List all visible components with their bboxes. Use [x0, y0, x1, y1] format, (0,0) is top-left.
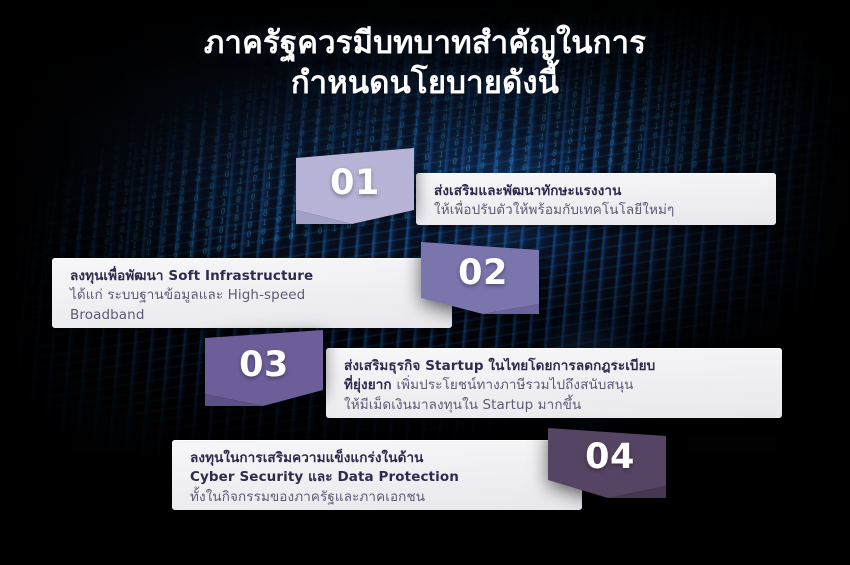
card-04-text: ลงทุนในการเสริมความแข็งแกร่งในด้าน Cyber… — [190, 449, 566, 507]
page-title-line-1: ภาครัฐควรมีบทบาทสำคัญในการ — [204, 25, 646, 61]
page-title: ภาครัฐควรมีบทบาทสำคัญในการ กำหนดนโยบายดั… — [0, 24, 850, 103]
card-03-line-2-bold: ที่ยุ่งยาก — [344, 377, 396, 393]
page-title-line-2: กำหนดนโยบายดังนี้ — [0, 64, 850, 104]
card-03-line-2: ที่ยุ่งยาก เพิ่มประโยชน์ทางภาษีรวมไปถึงส… — [344, 376, 766, 395]
card-02-text: ลงทุนเพื่อพัฒนา Soft Infrastructure ได้แ… — [70, 267, 436, 325]
card-04[interactable]: ลงทุนในการเสริมความแข็งแกร่งในด้าน Cyber… — [172, 440, 582, 510]
badge-02-number: 02 — [458, 253, 508, 293]
card-02-line-1: ลงทุนเพื่อพัฒนา Soft Infrastructure — [70, 267, 436, 286]
badge-03-number: 03 — [239, 345, 289, 385]
badge-01-number: 01 — [330, 163, 380, 203]
card-01-line-1: ส่งเสริมและพัฒนาทักษะแรงงาน — [434, 182, 760, 201]
infographic-slide: 1 0 0 1 0 1 1 0 0 1 0 1 0 0 1 1 0 1 0 0 … — [0, 0, 850, 565]
card-02-line-2: ได้แก่ ระบบฐานข้อมูลและ High-speed — [70, 286, 436, 305]
card-02-line-2-normal: ได้แก่ ระบบฐานข้อมูลและ High-speed — [70, 287, 305, 303]
card-03-line-1-bold: ส่งเสริมธุรกิจ Startup ในไทยโดยการลดกฎระ… — [344, 358, 655, 374]
badge-02[interactable]: 02 — [421, 238, 539, 314]
badge-04-number: 04 — [585, 437, 635, 477]
badge-04[interactable]: 04 — [548, 422, 666, 498]
card-04-line-3-normal: ทั้งในกิจกรรมของภาครัฐและภาคเอกชน — [190, 489, 425, 505]
badge-01[interactable]: 01 — [296, 148, 414, 224]
card-01[interactable]: ส่งเสริมและพัฒนาทักษะแรงงาน ให้เพื่อปรับ… — [416, 173, 776, 225]
card-04-line-1: ลงทุนในการเสริมความแข็งแกร่งในด้าน — [190, 449, 566, 468]
card-04-line-2: Cyber Security และ Data Protection — [190, 468, 566, 487]
card-02-line-3: Broadband — [70, 306, 436, 325]
card-04-line-1-bold: ลงทุนในการเสริมความแข็งแกร่งในด้าน — [190, 450, 423, 466]
card-03[interactable]: ส่งเสริมธุรกิจ Startup ในไทยโดยการลดกฎระ… — [326, 348, 782, 418]
card-01-line-1-bold: ส่งเสริมและพัฒนาทักษะแรงงาน — [434, 183, 621, 199]
card-01-text: ส่งเสริมและพัฒนาทักษะแรงงาน ให้เพื่อปรับ… — [434, 182, 760, 221]
card-02[interactable]: ลงทุนเพื่อพัฒนา Soft Infrastructure ได้แ… — [52, 258, 452, 328]
card-04-line-2-bold: Cyber Security และ Data Protection — [190, 469, 459, 485]
card-01-line-2-normal: ให้เพื่อปรับตัวให้พร้อมกับเทคโนโลยีใหม่ๆ — [434, 202, 674, 218]
card-01-line-2: ให้เพื่อปรับตัวให้พร้อมกับเทคโนโลยีใหม่ๆ — [434, 201, 760, 220]
card-03-text: ส่งเสริมธุรกิจ Startup ในไทยโดยการลดกฎระ… — [344, 357, 766, 415]
badge-03[interactable]: 03 — [205, 330, 323, 406]
card-04-line-3: ทั้งในกิจกรรมของภาครัฐและภาคเอกชน — [190, 488, 566, 507]
card-03-line-1: ส่งเสริมธุรกิจ Startup ในไทยโดยการลดกฎระ… — [344, 357, 766, 376]
card-03-line-3-normal: ให้มีเม็ดเงินมาลงทุนใน Startup มากขึ้น — [344, 397, 581, 413]
card-02-line-1-bold: ลงทุนเพื่อพัฒนา Soft Infrastructure — [70, 268, 313, 284]
card-03-line-2-normal: เพิ่มประโยชน์ทางภาษีรวมไปถึงสนับสนุน — [396, 377, 633, 393]
card-03-line-3: ให้มีเม็ดเงินมาลงทุนใน Startup มากขึ้น — [344, 396, 766, 415]
card-02-line-3-normal: Broadband — [70, 307, 144, 323]
